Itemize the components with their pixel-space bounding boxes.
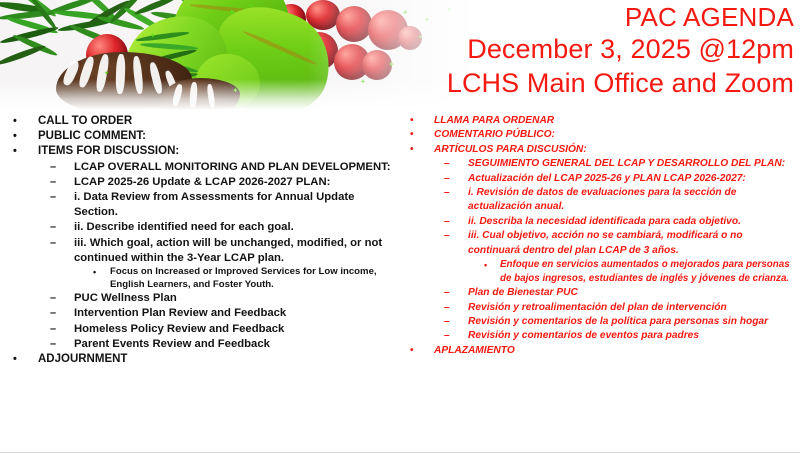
dash-bullet-icon: – (50, 220, 56, 235)
agenda-en-item-label: Focus on Increased or Improved Services … (110, 266, 400, 291)
agenda-es-item-11: –Revisión y comentarios de la política p… (400, 315, 800, 329)
agenda-es-item-label: Revisión y retroalimentación del plan de… (468, 301, 800, 315)
disc-bullet-icon: • (484, 258, 487, 272)
agenda-en-item-label: iii. Which goal, action will be unchange… (74, 236, 400, 266)
dash-bullet-icon: – (444, 301, 450, 315)
agenda-en-item-label: Intervention Plan Review and Feedback (74, 306, 400, 321)
dash-bullet-icon: – (444, 286, 450, 300)
agenda-en-item-4: –LCAP 2025-26 Update & LCAP 2026-2027 PL… (0, 175, 400, 190)
agenda-en-item-label: ITEMS FOR DISCUSSION: (38, 144, 400, 159)
agenda-es-item-label: LLAMA PARA ORDENAR (434, 114, 800, 128)
agenda-columns: •CALL TO ORDER•PUBLIC COMMENT:•ITEMS FOR… (0, 114, 800, 452)
agenda-es-item-label: ARTÍCULOS PARA DISCUSIÓN: (434, 143, 800, 157)
agenda-en-item-13: •ADJOURNMENT (0, 352, 400, 367)
dash-bullet-icon: – (444, 215, 450, 229)
disc-bullet-icon: • (13, 144, 17, 159)
dash-bullet-icon: – (444, 157, 450, 171)
agenda-list-spanish: •LLAMA PARA ORDENAR•COMENTARIO PÚBLICO:•… (400, 114, 800, 358)
agenda-en-item-5: –i. Data Review from Assessments for Ann… (0, 190, 400, 220)
agenda-en-item-3: –LCAP OVERALL MONITORING AND PLAN DEVELO… (0, 160, 400, 175)
agenda-en-item-label: PUC Wellness Plan (74, 291, 400, 306)
agenda-es-item-label: Revisión y comentarios de la política pa… (468, 315, 800, 329)
agenda-en-item-8: •Focus on Increased or Improved Services… (0, 266, 400, 291)
agenda-es-item-3: –SEGUIMIENTO GENERAL DEL LCAP Y DESARROL… (400, 157, 800, 171)
agenda-es-item-label: Plan de Bienestar PUC (468, 286, 800, 300)
agenda-column-english: •CALL TO ORDER•PUBLIC COMMENT:•ITEMS FOR… (0, 114, 400, 452)
disc-bullet-icon: • (13, 114, 17, 129)
disc-bullet-icon: • (410, 143, 414, 157)
dash-bullet-icon: – (50, 190, 56, 205)
agenda-es-item-label: iii. Cual objetivo, acción no se cambiar… (468, 229, 800, 258)
agenda-es-item-2: •ARTÍCULOS PARA DISCUSIÓN: (400, 143, 800, 157)
agenda-en-item-label: PUBLIC COMMENT: (38, 129, 400, 144)
agenda-es-item-5: –i. Revisión de datos de evaluaciones pa… (400, 186, 800, 215)
disc-bullet-icon: • (93, 266, 96, 279)
meeting-datetime: December 3, 2025 @12pm (154, 32, 794, 66)
dash-bullet-icon: – (444, 186, 450, 200)
dash-bullet-icon: – (50, 160, 56, 175)
agenda-es-item-label: Actualización del LCAP 2025-26 y PLAN LC… (468, 172, 800, 186)
agenda-es-item-10: –Revisión y retroalimentación del plan d… (400, 301, 800, 315)
agenda-es-item-8: •Enfoque en servicios aumentados o mejor… (400, 258, 800, 286)
agenda-en-item-11: –Homeless Policy Review and Feedback (0, 322, 400, 337)
agenda-en-item-label: LCAP OVERALL MONITORING AND PLAN DEVELOP… (74, 160, 400, 175)
agenda-en-item-10: –Intervention Plan Review and Feedback (0, 306, 400, 321)
dash-bullet-icon: – (50, 337, 56, 352)
agenda-es-item-label: Revisión y comentarios de eventos para p… (468, 329, 800, 343)
agenda-en-item-7: –iii. Which goal, action will be unchang… (0, 236, 400, 266)
dash-bullet-icon: – (444, 229, 450, 243)
meeting-location: LCHS Main Office and Zoom (154, 66, 794, 100)
agenda-en-item-12: –Parent Events Review and Feedback (0, 337, 400, 352)
agenda-es-item-label: APLAZAMIENTO (434, 344, 800, 358)
dash-bullet-icon: – (50, 175, 56, 190)
disc-bullet-icon: • (13, 352, 17, 367)
agenda-es-item-label: Enfoque en servicios aumentados o mejora… (500, 258, 800, 286)
agenda-en-item-label: Parent Events Review and Feedback (74, 337, 400, 352)
agenda-es-item-6: –ii. Describa la necesidad identificada … (400, 215, 800, 229)
dash-bullet-icon: – (50, 306, 56, 321)
agenda-es-item-9: –Plan de Bienestar PUC (400, 286, 800, 300)
agenda-es-item-label: i. Revisión de datos de evaluaciones par… (468, 186, 800, 215)
agenda-en-item-label: Homeless Policy Review and Feedback (74, 322, 400, 337)
dash-bullet-icon: – (444, 329, 450, 343)
agenda-en-item-9: –PUC Wellness Plan (0, 291, 400, 306)
agenda-es-item-0: •LLAMA PARA ORDENAR (400, 114, 800, 128)
disc-bullet-icon: • (13, 129, 17, 144)
agenda-en-item-1: •PUBLIC COMMENT: (0, 129, 400, 144)
disc-bullet-icon: • (410, 114, 414, 128)
agenda-es-item-13: •APLAZAMIENTO (400, 344, 800, 358)
agenda-en-item-label: i. Data Review from Assessments for Annu… (74, 190, 400, 220)
agenda-list-english: •CALL TO ORDER•PUBLIC COMMENT:•ITEMS FOR… (0, 114, 400, 367)
agenda-es-item-12: –Revisión y comentarios de eventos para … (400, 329, 800, 343)
agenda-en-item-label: LCAP 2025-26 Update & LCAP 2026-2027 PLA… (74, 175, 400, 190)
dash-bullet-icon: – (444, 315, 450, 329)
dash-bullet-icon: – (50, 291, 56, 306)
agenda-en-item-label: ADJOURNMENT (38, 352, 400, 367)
agenda-es-item-label: ii. Describa la necesidad identificada p… (468, 215, 800, 229)
agenda-en-item-label: CALL TO ORDER (38, 114, 400, 129)
agenda-es-item-7: –iii. Cual objetivo, acción no se cambia… (400, 229, 800, 258)
agenda-en-item-0: •CALL TO ORDER (0, 114, 400, 129)
agenda-en-item-label: ii. Describe identified need for each go… (74, 220, 400, 235)
agenda-en-item-6: –ii. Describe identified need for each g… (0, 220, 400, 235)
dash-bullet-icon: – (50, 322, 56, 337)
dash-bullet-icon: – (444, 172, 450, 186)
agenda-es-item-label: SEGUIMIENTO GENERAL DEL LCAP Y DESARROLL… (468, 157, 800, 171)
page-title: PAC AGENDA (154, 0, 794, 32)
title-block: PAC AGENDA December 3, 2025 @12pm LCHS M… (154, 0, 794, 100)
agenda-en-item-2: •ITEMS FOR DISCUSSION: (0, 144, 400, 159)
disc-bullet-icon: • (410, 128, 414, 142)
disc-bullet-icon: • (410, 344, 414, 358)
agenda-es-item-1: •COMENTARIO PÚBLICO: (400, 128, 800, 142)
dash-bullet-icon: – (50, 236, 56, 251)
agenda-slide: ✦ ✦ ✦ ✦ ✦ ✦ ✦ ✦ ✦ ✦ ✦ ✦ PAC AGENDA Decem… (0, 0, 800, 453)
agenda-column-spanish: •LLAMA PARA ORDENAR•COMENTARIO PÚBLICO:•… (400, 114, 800, 452)
agenda-es-item-4: –Actualización del LCAP 2025-26 y PLAN L… (400, 172, 800, 186)
agenda-es-item-label: COMENTARIO PÚBLICO: (434, 128, 800, 142)
